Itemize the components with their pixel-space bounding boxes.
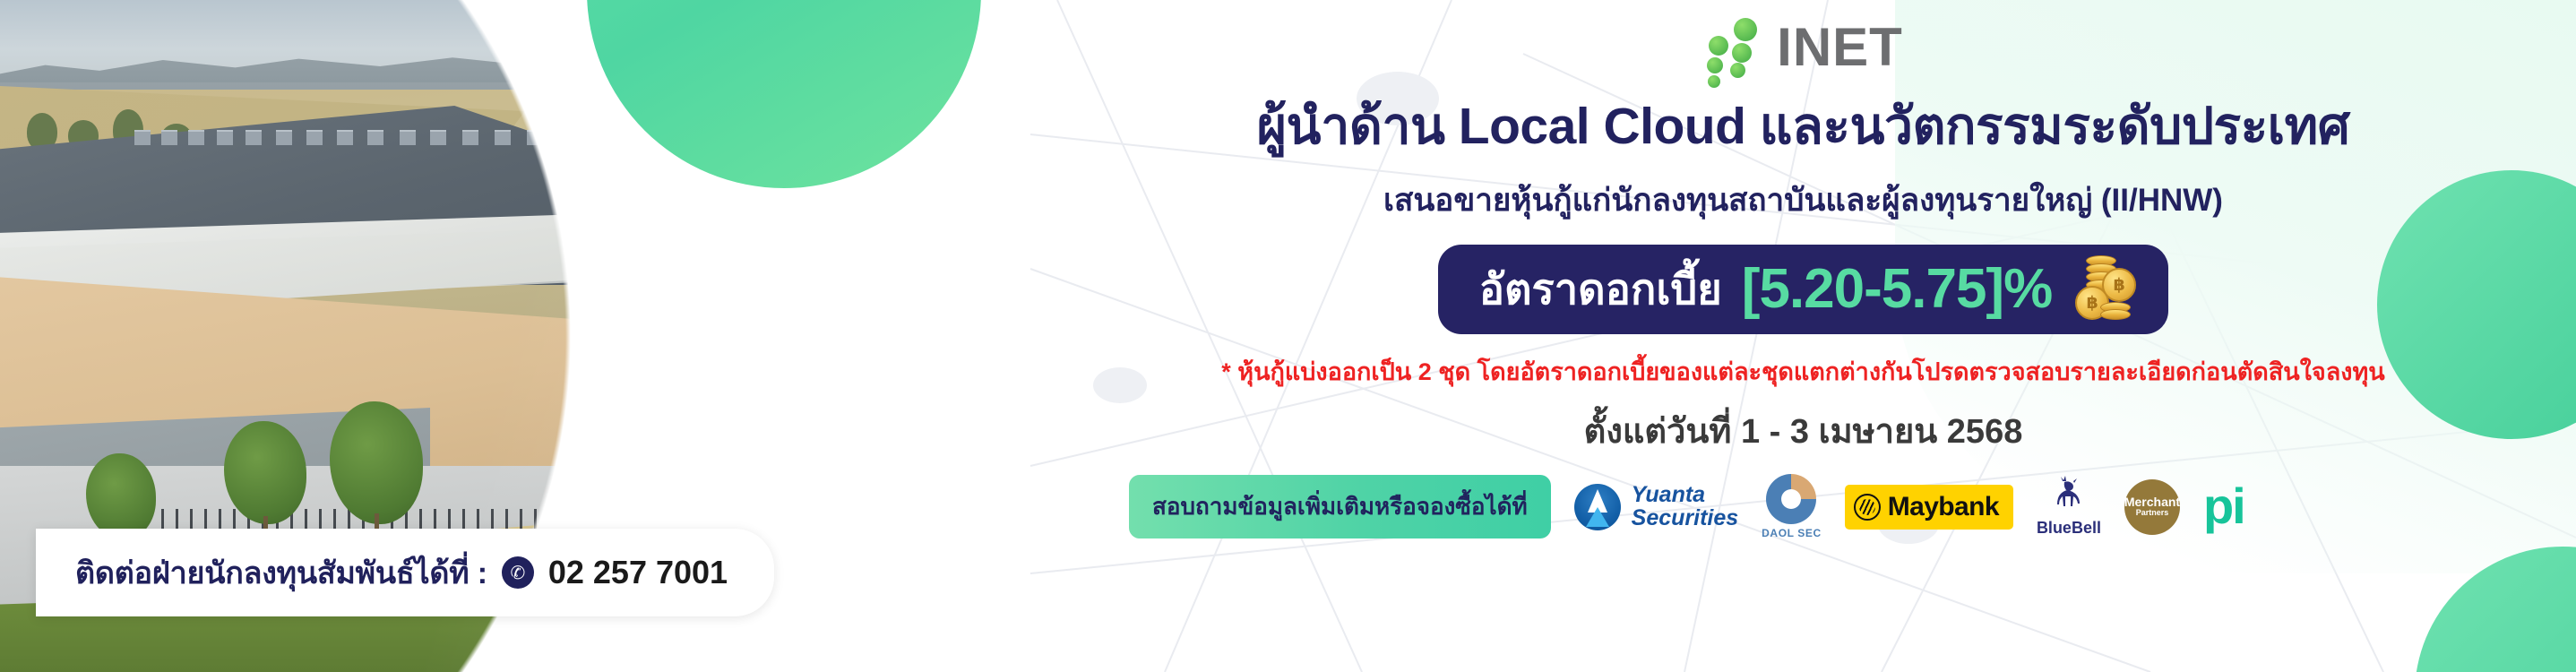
inet-promotional-banner: ติดต่อฝ่ายนักลงทุนสัมพันธ์ได้ที่ : ✆ 02 …: [0, 0, 2576, 672]
interest-rate-value: [5.20-5.75]%: [1742, 257, 2052, 321]
coin-symbol: ฿: [2114, 275, 2125, 296]
interest-rate-label: อัตราดอกเบี้ย: [1479, 255, 1722, 323]
merchant-circle-icon: Merchant Partners: [2124, 479, 2180, 535]
disclaimer-text: * หุ้นกู้แบ่งออกเป็น 2 ชุด โดยอัตราดอกเบ…: [1221, 352, 2384, 391]
offering-dates: ตั้งแต่วันที่ 1 - 3 เมษายน 2568: [1584, 403, 2023, 458]
yuanta-line2: Securities: [1632, 507, 1739, 530]
yuanta-mark-icon: [1574, 484, 1621, 530]
partner-logo-maybank[interactable]: Maybank: [1845, 485, 2013, 530]
partner-logo-merchant-partners[interactable]: Merchant Partners: [2124, 479, 2180, 535]
bluebell-wordmark: BlueBell: [2037, 519, 2101, 538]
phone-glyph: ✆: [510, 562, 525, 584]
phone-icon: ✆: [502, 556, 534, 589]
page-subtitle: เสนอขายหุ้นกู้แก่นักลงทุนสถาบันและผู้ลงท…: [1383, 176, 2223, 225]
partner-logo-daol[interactable]: DAOL SEC: [1762, 474, 1822, 539]
inet-dots-icon: [1703, 16, 1768, 79]
deer-icon: [2050, 476, 2088, 517]
pi-wordmark: pi: [2203, 487, 2244, 527]
gold-coins-icon: ฿ ฿: [2072, 254, 2138, 323]
photo-tree-crown: [330, 401, 423, 524]
coin-symbol: ฿: [2087, 293, 2098, 314]
merchant-line1: Merchant: [2124, 495, 2180, 509]
merchant-line2: Partners: [2136, 509, 2169, 517]
partner-logo-row: สอบถามข้อมูลเพิ่มเติมหรือจองซื้อได้ที่ Y…: [1030, 474, 2576, 539]
photo-tree-crown: [224, 421, 306, 524]
maybank-wordmark: Maybank: [1888, 492, 1999, 522]
partner-logo-pi[interactable]: pi: [2203, 487, 2244, 527]
contact-label: ติดต่อฝ่ายนักลงทุนสัมพันธ์ได้ที่ :: [75, 548, 487, 597]
promo-content: INET ผู้นำด้าน Local Cloud และนวัตกรรมระ…: [1030, 0, 2576, 672]
yuanta-line1: Yuanta: [1632, 484, 1739, 507]
interest-rate-badge: อัตราดอกเบี้ย [5.20-5.75]% ฿ ฿: [1438, 245, 2168, 334]
maybank-tiger-icon: [1854, 494, 1881, 521]
yuanta-wordmark: Yuanta Securities: [1632, 484, 1739, 530]
inet-logo[interactable]: INET: [1703, 14, 1903, 81]
inquiry-cta-button[interactable]: สอบถามข้อมูลเพิ่มเติมหรือจองซื้อได้ที่: [1129, 475, 1551, 538]
daol-mark-icon: [1766, 474, 1816, 524]
partner-logo-bluebell[interactable]: BlueBell: [2037, 476, 2101, 538]
photo-tree-crown: [86, 453, 156, 539]
contact-phone-number[interactable]: 02 257 7001: [548, 554, 728, 591]
inet-wordmark: INET: [1777, 21, 1903, 74]
investor-relations-contact-card[interactable]: ติดต่อฝ่ายนักลงทุนสัมพันธ์ได้ที่ : ✆ 02 …: [36, 529, 774, 616]
page-title: ผู้นำด้าน Local Cloud และนวัตกรรมระดับปร…: [1257, 86, 2350, 167]
partner-logo-yuanta[interactable]: Yuanta Securities: [1574, 484, 1739, 530]
daol-wordmark: DAOL SEC: [1762, 527, 1822, 539]
